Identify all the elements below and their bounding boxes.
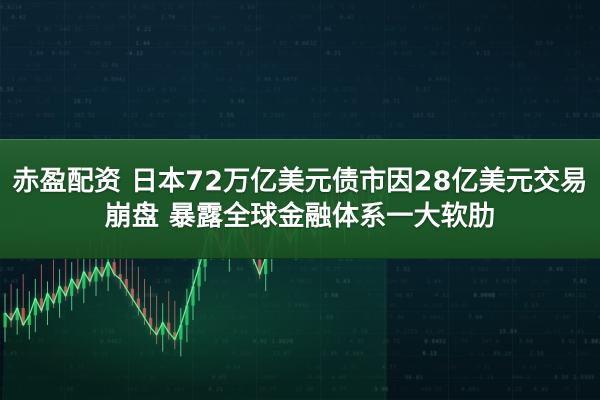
- ticker-row: 1.8820-0.144.3528.710.0452-1.96207.63.58…: [0, 98, 600, 107]
- headline-line-2: 崩盘 暴露全球金融体系一大软肋: [105, 203, 495, 230]
- headline-line-1: 赤盈配资 日本72万亿美元债市因28亿美元交易: [12, 168, 587, 195]
- ticker-row: 3.04910.56-7.7412.060.22889.35-0.852.135…: [0, 62, 600, 71]
- ticker-row: 145.22-0.312.680.91538.47-4.120.0608671.…: [0, 50, 600, 59]
- ticker-row: 1.3355-0.428.090.033456.812.70-1.18904.2…: [0, 14, 600, 23]
- news-thumbnail-image: 0.82141.06-2.314.770.0021112.403.95-0.64…: [0, 0, 600, 400]
- ticker-row: 0.82141.06-2.314.770.0021112.403.95-0.64…: [0, 122, 600, 131]
- banner-bottom-edge: [0, 258, 600, 259]
- headline-text-block: 赤盈配资 日本72万亿美元债市因28亿美元交易 崩盘 暴露全球金融体系一大软肋: [0, 139, 600, 259]
- ticker-row: 0.4478-1.6933.225.080.09417.66-0.27318.4…: [0, 76, 600, 85]
- ticker-row: 72.052.94-0.580.173361.29-3.3715.840.669…: [0, 86, 600, 95]
- ticker-row: 22.400.77-3.061.92440.150.0836.21-0.4918…: [0, 26, 600, 35]
- ticker-row: 0.66125.43-0.97230.081.44-2.850.017693.6…: [0, 40, 600, 49]
- headline-banner: 赤盈配资 日本72万亿美元债市因28亿美元交易 崩盘 暴露全球金融体系一大软肋: [0, 139, 600, 259]
- ticker-row: 0.236511.07-2.490.884163.526.13-0.7344.2…: [0, 112, 600, 121]
- ticker-row: 0.82141.06-2.314.770.0021112.403.95-0.64…: [0, 4, 600, 13]
